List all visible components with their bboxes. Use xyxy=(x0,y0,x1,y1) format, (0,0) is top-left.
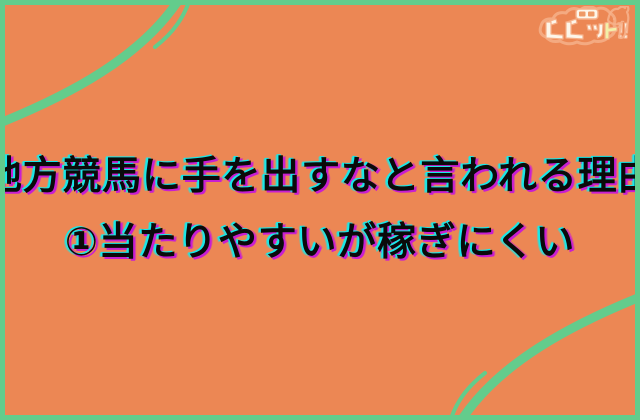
logo-wordmark xyxy=(546,19,603,39)
brand-logo-mark xyxy=(540,6,628,44)
horse-silhouette-icon xyxy=(608,6,628,38)
brand-logo[interactable] xyxy=(535,6,631,50)
title-line-secondary: ①当たりやすいが稼ぎにくい xyxy=(65,220,575,266)
content-panel: 地方競馬に手を出すなと言われる理由 ①当たりやすいが稼ぎにくい xyxy=(5,5,635,415)
logo-badge xyxy=(576,9,598,19)
title-block: 地方競馬に手を出すなと言われる理由 ①当たりやすいが稼ぎにくい xyxy=(5,5,635,415)
thumbnail-canvas: 地方競馬に手を出すなと言われる理由 ①当たりやすいが稼ぎにくい xyxy=(0,0,640,420)
title-line-primary: 地方競馬に手を出すなと言われる理由 xyxy=(5,154,635,200)
